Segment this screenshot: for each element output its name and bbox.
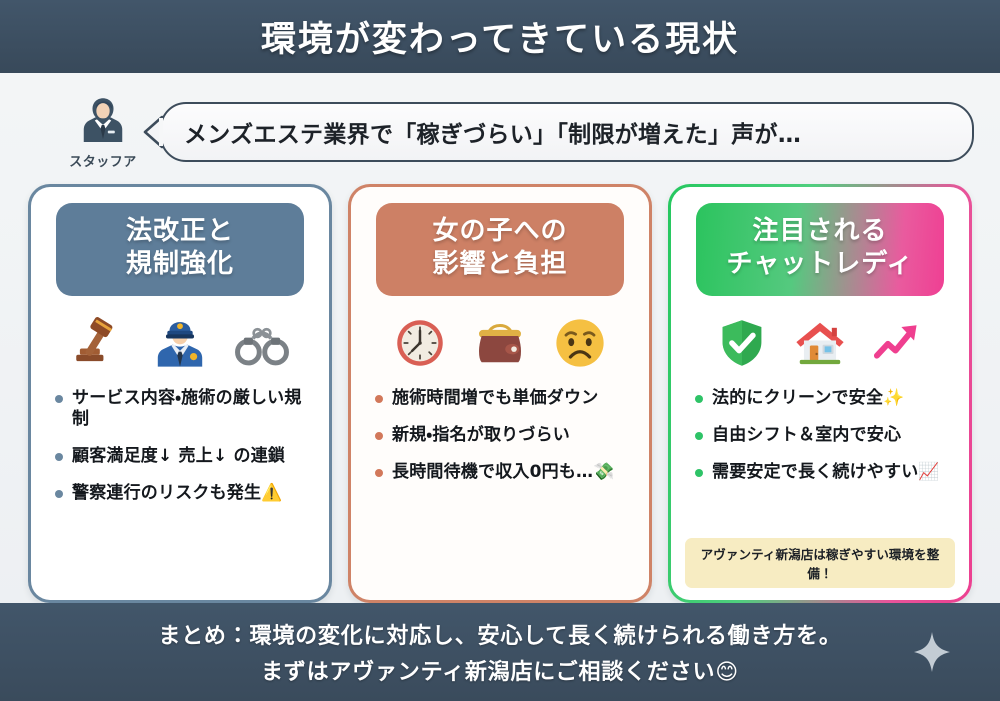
bullet-text: 新規・指名が取りづらい [392, 425, 570, 446]
bullet-text: 顧客満足度↓ 売上↓ の連鎖 [72, 446, 285, 467]
speech-bubble-tail-icon [143, 115, 163, 149]
police-officer-icon [151, 314, 209, 372]
bullet-dot-icon [55, 490, 63, 498]
footer-bar: まとめ：環境の変化に対応し、安心して長く続けられる働き方を。 まずはアヴァンティ… [0, 603, 1000, 701]
list-item: 法的にクリーンで安全✨ [695, 388, 951, 409]
card-bullet-list: 法的にクリーンで安全✨ 自由シフト＆室内で安心 需要安定で長く続けやすい📈 [685, 384, 955, 538]
list-item: 自由シフト＆室内で安心 [695, 425, 951, 446]
purse-icon [472, 315, 528, 371]
card-icon-row [715, 312, 925, 374]
header-bar: 環境が変わってきている現状 [0, 0, 1000, 73]
avatar: スタッフア [60, 93, 146, 170]
list-item: 警察連行のリスクも発生⚠️ [55, 483, 311, 504]
bullet-dot-icon [375, 469, 383, 477]
card-bullet-list: サービス内容・施術の厳しい規制 顧客満足度↓ 売上↓ の連鎖 警察連行のリスクも… [45, 384, 315, 588]
avatar-label: スタッフア [69, 151, 137, 170]
bullet-dot-icon [375, 432, 383, 440]
shield-check-icon [715, 316, 769, 370]
card-title-line1: 法改正と [62, 215, 298, 248]
bullet-text: サービス内容・施術の厳しい規制 [72, 388, 311, 431]
bullet-dot-icon [695, 469, 703, 477]
card-title: 法改正と 規制強化 [56, 203, 304, 296]
bullet-dot-icon [55, 453, 63, 461]
trending-up-icon [871, 316, 925, 370]
bullet-dot-icon [375, 395, 383, 403]
card-title-line2: チャットレディ [702, 248, 938, 281]
page-title: 環境が変わってきている現状 [261, 11, 739, 62]
card-icon-row [69, 312, 291, 374]
bullet-text: 需要安定で長く続けやすい📈 [712, 462, 940, 483]
bullet-text: 施術時間増でも単価ダウン [392, 388, 598, 409]
bullet-text: 自由シフト＆室内で安心 [712, 425, 901, 446]
list-item: 顧客満足度↓ 売上↓ の連鎖 [55, 446, 311, 467]
card-title-line2: 影響と負担 [382, 248, 618, 281]
list-item: 長時間待機で収入0円も…💸 [375, 462, 631, 483]
card-title-line2: 規制強化 [62, 248, 298, 281]
bullet-dot-icon [55, 395, 63, 403]
bullet-text: 警察連行のリスクも発生⚠️ [72, 483, 283, 504]
card-title: 注目される チャットレディ [696, 203, 944, 296]
cards-container: 法改正と 規制強化 [0, 178, 1000, 603]
house-icon [793, 316, 847, 370]
status-badge: アヴァンティ新潟店は稼ぎやすい環境を整備！ [685, 538, 955, 588]
list-item: 施術時間増でも単価ダウン [375, 388, 631, 409]
speech-bubble-text: メンズエステ業界で「稼ぎづらい」「制限が増えた」声が… [184, 115, 801, 149]
businessperson-icon [75, 93, 131, 149]
bullet-text: 長時間待機で収入0円も…💸 [392, 462, 615, 483]
worried-face-icon [552, 315, 608, 371]
card-bullet-list: 施術時間増でも単価ダウン 新規・指名が取りづらい 長時間待機で収入0円も…💸 [365, 384, 635, 588]
footer-line-1: まとめ：環境の変化に対応し、安心して長く続けられる働き方を。 [158, 618, 841, 650]
gavel-icon [69, 314, 127, 372]
card-impact-on-girls: 女の子への 影響と負担 [348, 184, 652, 603]
bullet-dot-icon [695, 395, 703, 403]
list-item: 需要安定で長く続けやすい📈 [695, 462, 951, 483]
bullet-dot-icon [695, 432, 703, 440]
list-item: サービス内容・施術の厳しい規制 [55, 388, 311, 431]
card-title-line1: 女の子への [382, 215, 618, 248]
sparkle-icon [912, 630, 952, 674]
card-title-line1: 注目される [702, 215, 938, 248]
list-item: 新規・指名が取りづらい [375, 425, 631, 446]
speech-row: スタッフア メンズエステ業界で「稼ぎづらい」「制限が増えた」声が… [0, 73, 1000, 178]
footer-line-2: まずはアヴァンティ新潟店にご相談ください😊 [261, 654, 739, 686]
card-chat-lady: 注目される チャットレディ [668, 184, 972, 603]
bullet-text: 法的にクリーンで安全✨ [712, 388, 905, 409]
clock-icon [392, 315, 448, 371]
card-law-revision: 法改正と 規制強化 [28, 184, 332, 603]
infographic-poster: 環境が変わってきている現状 スタッフア メンズエステ業界で「稼ぎづらい」「制限が… [0, 0, 1000, 701]
handcuffs-icon [233, 314, 291, 372]
card-icon-row [392, 312, 608, 374]
speech-bubble: メンズエステ業界で「稼ぎづらい」「制限が増えた」声が… [160, 102, 974, 162]
card-title: 女の子への 影響と負担 [376, 203, 624, 296]
